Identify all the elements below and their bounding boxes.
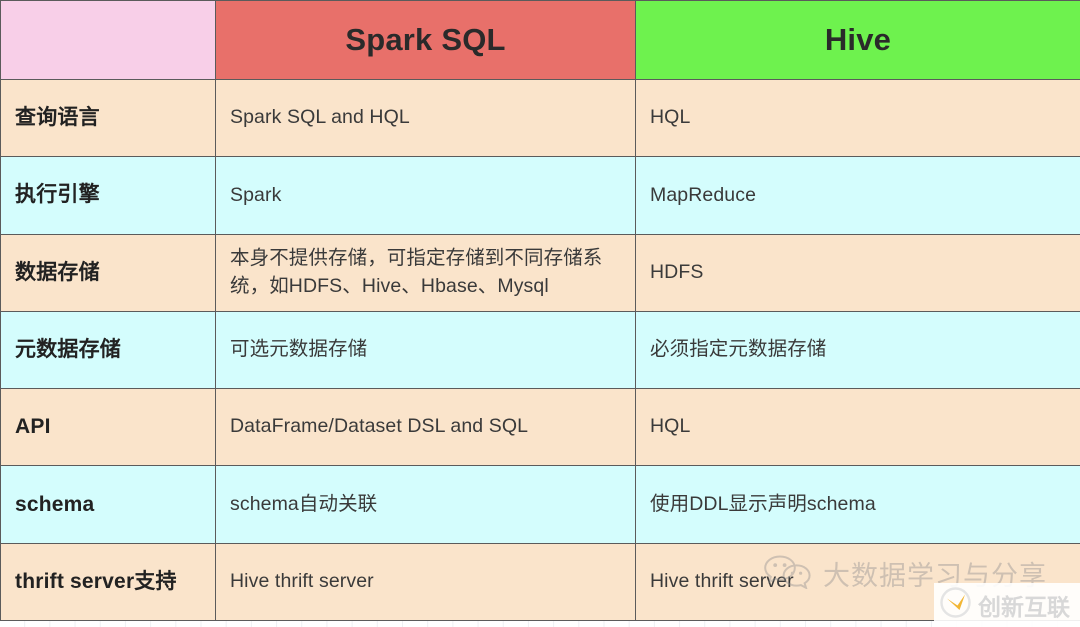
table-row: thrift server支持 Hive thrift server Hive … bbox=[1, 543, 1080, 620]
cell-hive-text: Hive thrift server bbox=[650, 568, 1030, 596]
row-label: schema bbox=[1, 466, 216, 543]
table-header: Spark SQL Hive bbox=[1, 1, 1080, 80]
cell-hive-text: HQL bbox=[650, 413, 1030, 441]
cell-spark-sql: Spark SQL and HQL bbox=[216, 80, 636, 157]
cell-spark-sql-text: 本身不提供存储，可指定存储到不同存储系统，如HDFS、Hive、Hbase、My… bbox=[230, 245, 610, 300]
cell-spark-sql-text: Spark SQL and HQL bbox=[230, 104, 610, 132]
cell-spark-sql: DataFrame/Dataset DSL and SQL bbox=[216, 389, 636, 466]
table-corner-header bbox=[1, 1, 216, 80]
cell-hive-text: 使用DDL显示声明schema bbox=[650, 491, 1030, 519]
cell-hive-text: HQL bbox=[650, 104, 1030, 132]
comparison-table-container: Spark SQL Hive 查询语言 Spark SQL and HQL HQ… bbox=[0, 0, 1080, 620]
row-label: 执行引擎 bbox=[1, 157, 216, 234]
cell-hive: 使用DDL显示声明schema bbox=[636, 466, 1080, 543]
cell-spark-sql-text: Spark bbox=[230, 182, 610, 210]
column-header-spark-sql: Spark SQL bbox=[216, 1, 636, 80]
cell-spark-sql-text: 可选元数据存储 bbox=[230, 336, 610, 364]
cell-hive-text: 必须指定元数据存储 bbox=[650, 336, 1030, 364]
table-header-row: Spark SQL Hive bbox=[1, 1, 1080, 80]
column-header-hive: Hive bbox=[636, 1, 1080, 80]
row-label: API bbox=[1, 389, 216, 466]
cell-hive: 必须指定元数据存储 bbox=[636, 311, 1080, 388]
cell-spark-sql: Spark bbox=[216, 157, 636, 234]
cell-spark-sql: 可选元数据存储 bbox=[216, 311, 636, 388]
table-row: schema schema自动关联 使用DDL显示声明schema bbox=[1, 466, 1080, 543]
row-label: 数据存储 bbox=[1, 234, 216, 311]
row-label: 元数据存储 bbox=[1, 311, 216, 388]
cell-spark-sql-text: DataFrame/Dataset DSL and SQL bbox=[230, 413, 610, 441]
table-body: 查询语言 Spark SQL and HQL HQL 执行引擎 Spark Ma… bbox=[1, 80, 1080, 621]
cell-hive: MapReduce bbox=[636, 157, 1080, 234]
cell-hive-text: MapReduce bbox=[650, 182, 1030, 210]
row-label: 查询语言 bbox=[1, 80, 216, 157]
cell-hive-text: HDFS bbox=[650, 259, 1030, 287]
cell-spark-sql: Hive thrift server bbox=[216, 543, 636, 620]
table-row: 执行引擎 Spark MapReduce bbox=[1, 157, 1080, 234]
cell-spark-sql-text: Hive thrift server bbox=[230, 568, 610, 596]
table-row: 元数据存储 可选元数据存储 必须指定元数据存储 bbox=[1, 311, 1080, 388]
cell-hive: HQL bbox=[636, 389, 1080, 466]
table-row: 查询语言 Spark SQL and HQL HQL bbox=[1, 80, 1080, 157]
cell-hive: Hive thrift server bbox=[636, 543, 1080, 620]
table-row: API DataFrame/Dataset DSL and SQL HQL bbox=[1, 389, 1080, 466]
cell-spark-sql: 本身不提供存储，可指定存储到不同存储系统，如HDFS、Hive、Hbase、My… bbox=[216, 234, 636, 311]
table-row: 数据存储 本身不提供存储，可指定存储到不同存储系统，如HDFS、Hive、Hba… bbox=[1, 234, 1080, 311]
cell-spark-sql-text: schema自动关联 bbox=[230, 491, 610, 519]
cell-hive: HDFS bbox=[636, 234, 1080, 311]
comparison-table: Spark SQL Hive 查询语言 Spark SQL and HQL HQ… bbox=[0, 0, 1080, 621]
row-label: thrift server支持 bbox=[1, 543, 216, 620]
cell-spark-sql: schema自动关联 bbox=[216, 466, 636, 543]
cell-hive: HQL bbox=[636, 80, 1080, 157]
